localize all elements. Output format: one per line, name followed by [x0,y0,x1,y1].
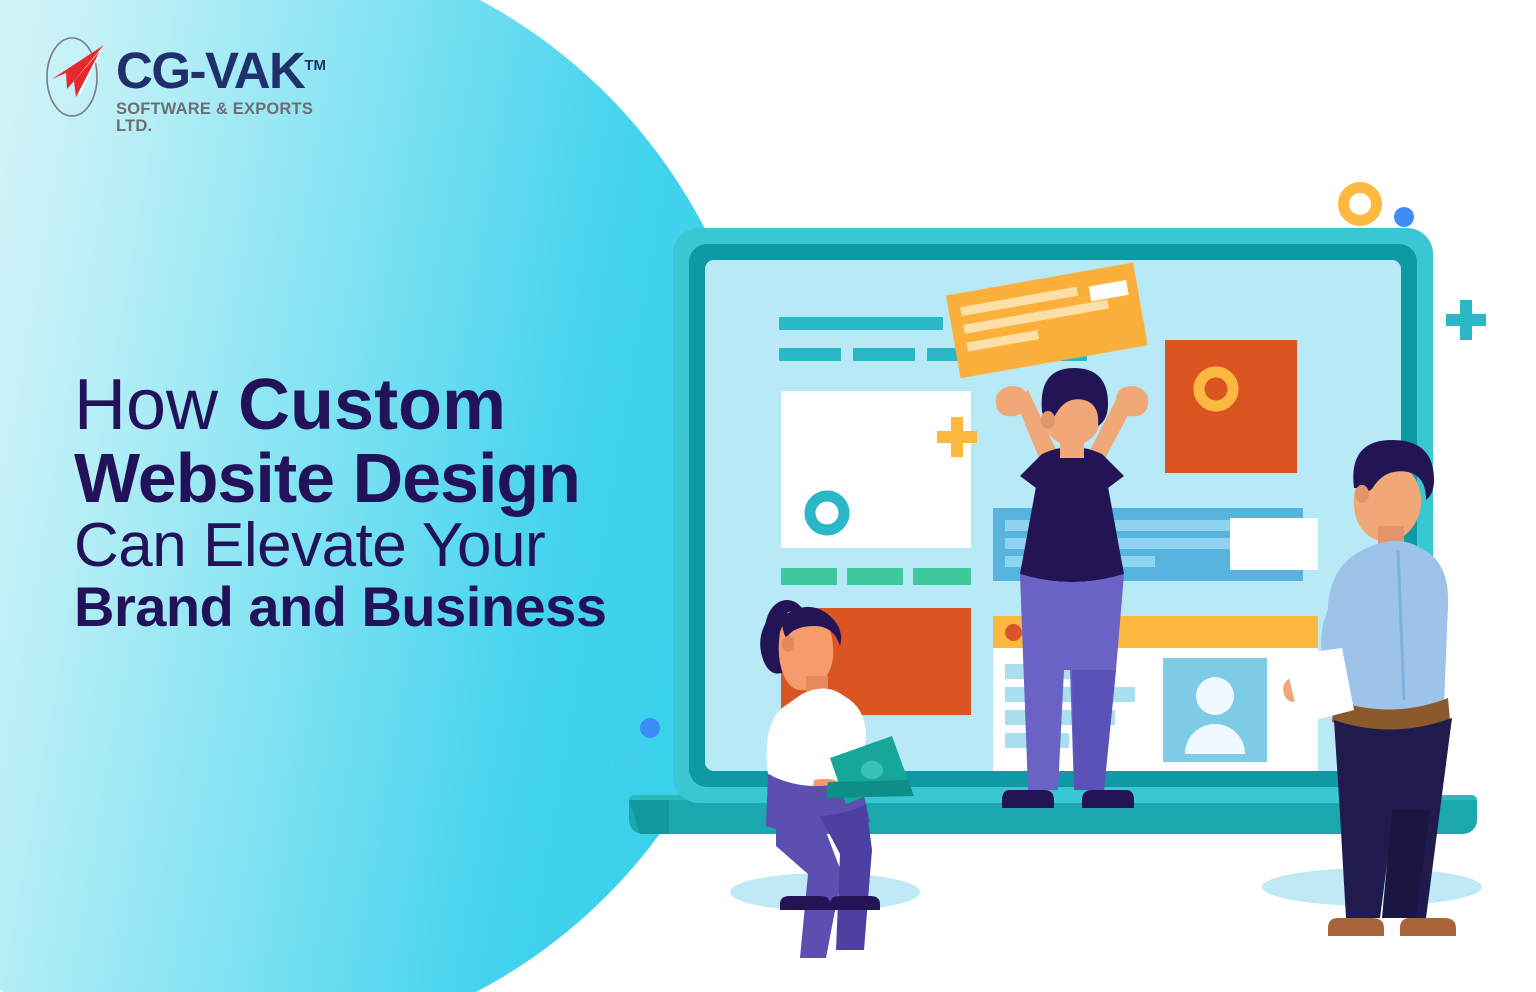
headline-line-1: How Custom [74,368,714,442]
logo-trademark: TM [304,57,326,74]
cgvak-arrow-logo-icon [44,35,108,119]
teal-ring-icon [804,490,850,536]
teal-plus-decoration-icon [1444,298,1488,342]
headline-line-1-light: How [74,365,238,445]
yellow-card-held [944,266,1154,376]
teal-text-bar [779,348,841,361]
yellow-ring-decoration-icon [1338,182,1382,226]
cyan-plus-decoration-icon [612,743,656,787]
gold-ring-icon [1191,364,1241,414]
banner-canvas: CG-VAKTM SOFTWARE & EXPORTS LTD. How Cus… [0,0,1536,992]
headline-line-2: Website Design [74,442,714,514]
headline-line-4: Brand and Business [74,578,714,636]
logo-name: CG-VAKTM [116,45,344,96]
woman-with-laptop [732,582,932,902]
headline-line-1-bold: Custom [238,365,506,445]
teal-text-bar [779,317,943,330]
blue-dot-decoration-bottom-icon [640,718,660,738]
page-title: How Custom Website Design Can Elevate Yo… [74,368,714,636]
headline-line-3: Can Elevate Your [74,514,714,578]
white-paper-held [1282,648,1372,738]
blue-dot-decoration-top-icon [1394,207,1414,227]
brand-logo[interactable]: CG-VAKTM SOFTWARE & EXPORTS LTD. [44,33,344,121]
logo-text: CG-VAKTM SOFTWARE & EXPORTS LTD. [116,45,344,134]
logo-tagline: SOFTWARE & EXPORTS LTD. [116,101,344,134]
teal-text-bar [853,348,915,361]
